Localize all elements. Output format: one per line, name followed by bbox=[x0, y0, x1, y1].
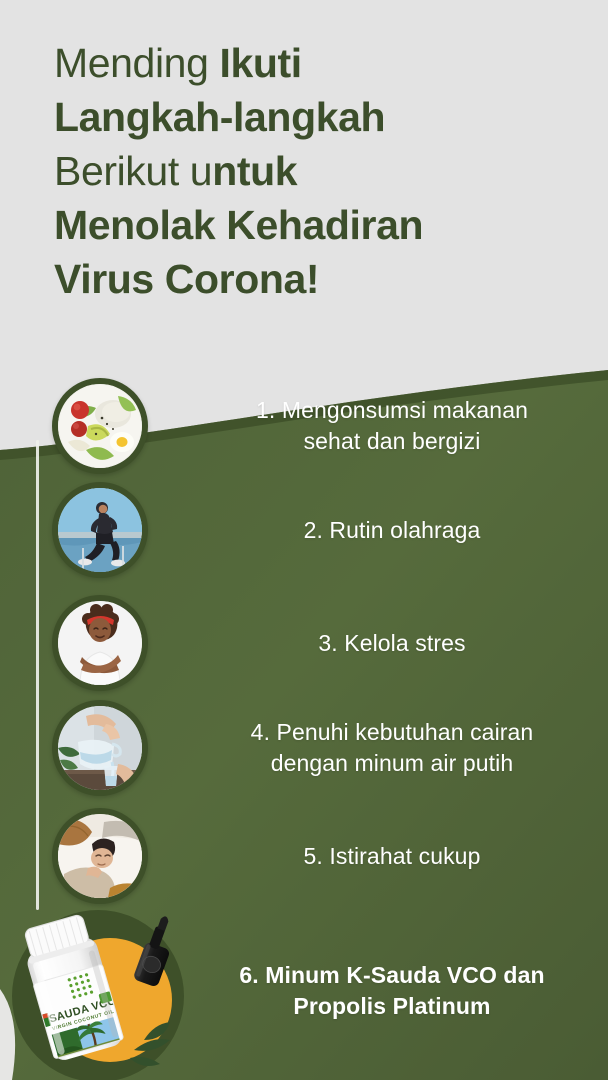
list-item: 1. Mengonsumsi makanan sehat dan bergizi bbox=[0, 378, 608, 474]
headline-line-2-bold: Langkah-langkah bbox=[54, 94, 385, 140]
headline-line-3-bold: ntuk bbox=[212, 148, 297, 194]
step-text-line-1: 3. Kelola stres bbox=[200, 628, 584, 659]
headline-line-5: Virus Corona! bbox=[54, 252, 574, 306]
step-text-line-1: 4. Penuhi kebutuhan cairan bbox=[200, 717, 584, 748]
woman-sleeping-photo bbox=[52, 808, 148, 904]
headline-line-5-bold: Virus Corona! bbox=[54, 256, 319, 302]
step-text: 5. Istirahat cukup bbox=[200, 841, 608, 872]
step-text: 6. Minum K-Sauda VCO dan Propolis Platin… bbox=[200, 960, 608, 1022]
headline-line-1-light: Mending bbox=[54, 40, 219, 86]
step-text-line-1: 6. Minum K-Sauda VCO dan bbox=[200, 960, 584, 991]
step-text-line-1: 2. Rutin olahraga bbox=[200, 515, 584, 546]
page-title: Mending Ikuti Langkah-langkah Berikut un… bbox=[54, 36, 574, 306]
step-thumbnail-wrap bbox=[0, 482, 200, 578]
step-text: 4. Penuhi kebutuhan cairan dengan minum … bbox=[200, 717, 608, 779]
step-text-line-1: 1. Mengonsumsi makanan bbox=[200, 395, 584, 426]
step-thumbnail-wrap bbox=[0, 808, 200, 904]
list-item: 4. Penuhi kebutuhan cairan dengan minum … bbox=[0, 700, 608, 796]
headline-line-1: Mending Ikuti bbox=[54, 36, 574, 90]
step-text: 2. Rutin olahraga bbox=[200, 515, 608, 546]
headline-line-1-bold: Ikuti bbox=[219, 40, 301, 86]
healthy-food-bowl-photo bbox=[52, 378, 148, 474]
step-text-line-2: Propolis Platinum bbox=[200, 991, 584, 1022]
step-text-line-2: sehat dan bergizi bbox=[200, 426, 584, 457]
headline-line-3: Berikut untuk bbox=[54, 144, 574, 198]
list-item: 5. Istirahat cukup bbox=[0, 808, 608, 904]
step-text-line-1: 5. Istirahat cukup bbox=[200, 841, 584, 872]
product-bottles-photo: SAUDA VCO VIRGIN COCONUT OIL bbox=[0, 900, 208, 1080]
step-thumbnail-wrap bbox=[0, 595, 200, 691]
headline-line-2: Langkah-langkah bbox=[54, 90, 574, 144]
infographic-poster: Mending Ikuti Langkah-langkah Berikut un… bbox=[0, 0, 608, 1080]
headline-line-3-light: Berikut u bbox=[54, 148, 212, 194]
list-item: 3. Kelola stres bbox=[0, 595, 608, 691]
step-thumbnail-wrap bbox=[0, 700, 200, 796]
step-text: 3. Kelola stres bbox=[200, 628, 608, 659]
woman-hugging-self-photo bbox=[52, 595, 148, 691]
man-running-photo bbox=[52, 482, 148, 578]
pouring-water-photo bbox=[52, 700, 148, 796]
headline-line-4-bold: Menolak Kehadiran bbox=[54, 202, 423, 248]
step-thumbnail-wrap bbox=[0, 378, 200, 474]
step-text-line-2: dengan minum air putih bbox=[200, 748, 584, 779]
step-text: 1. Mengonsumsi makanan sehat dan bergizi bbox=[200, 395, 608, 457]
headline-line-4: Menolak Kehadiran bbox=[54, 198, 574, 252]
list-item: 2. Rutin olahraga bbox=[0, 482, 608, 578]
